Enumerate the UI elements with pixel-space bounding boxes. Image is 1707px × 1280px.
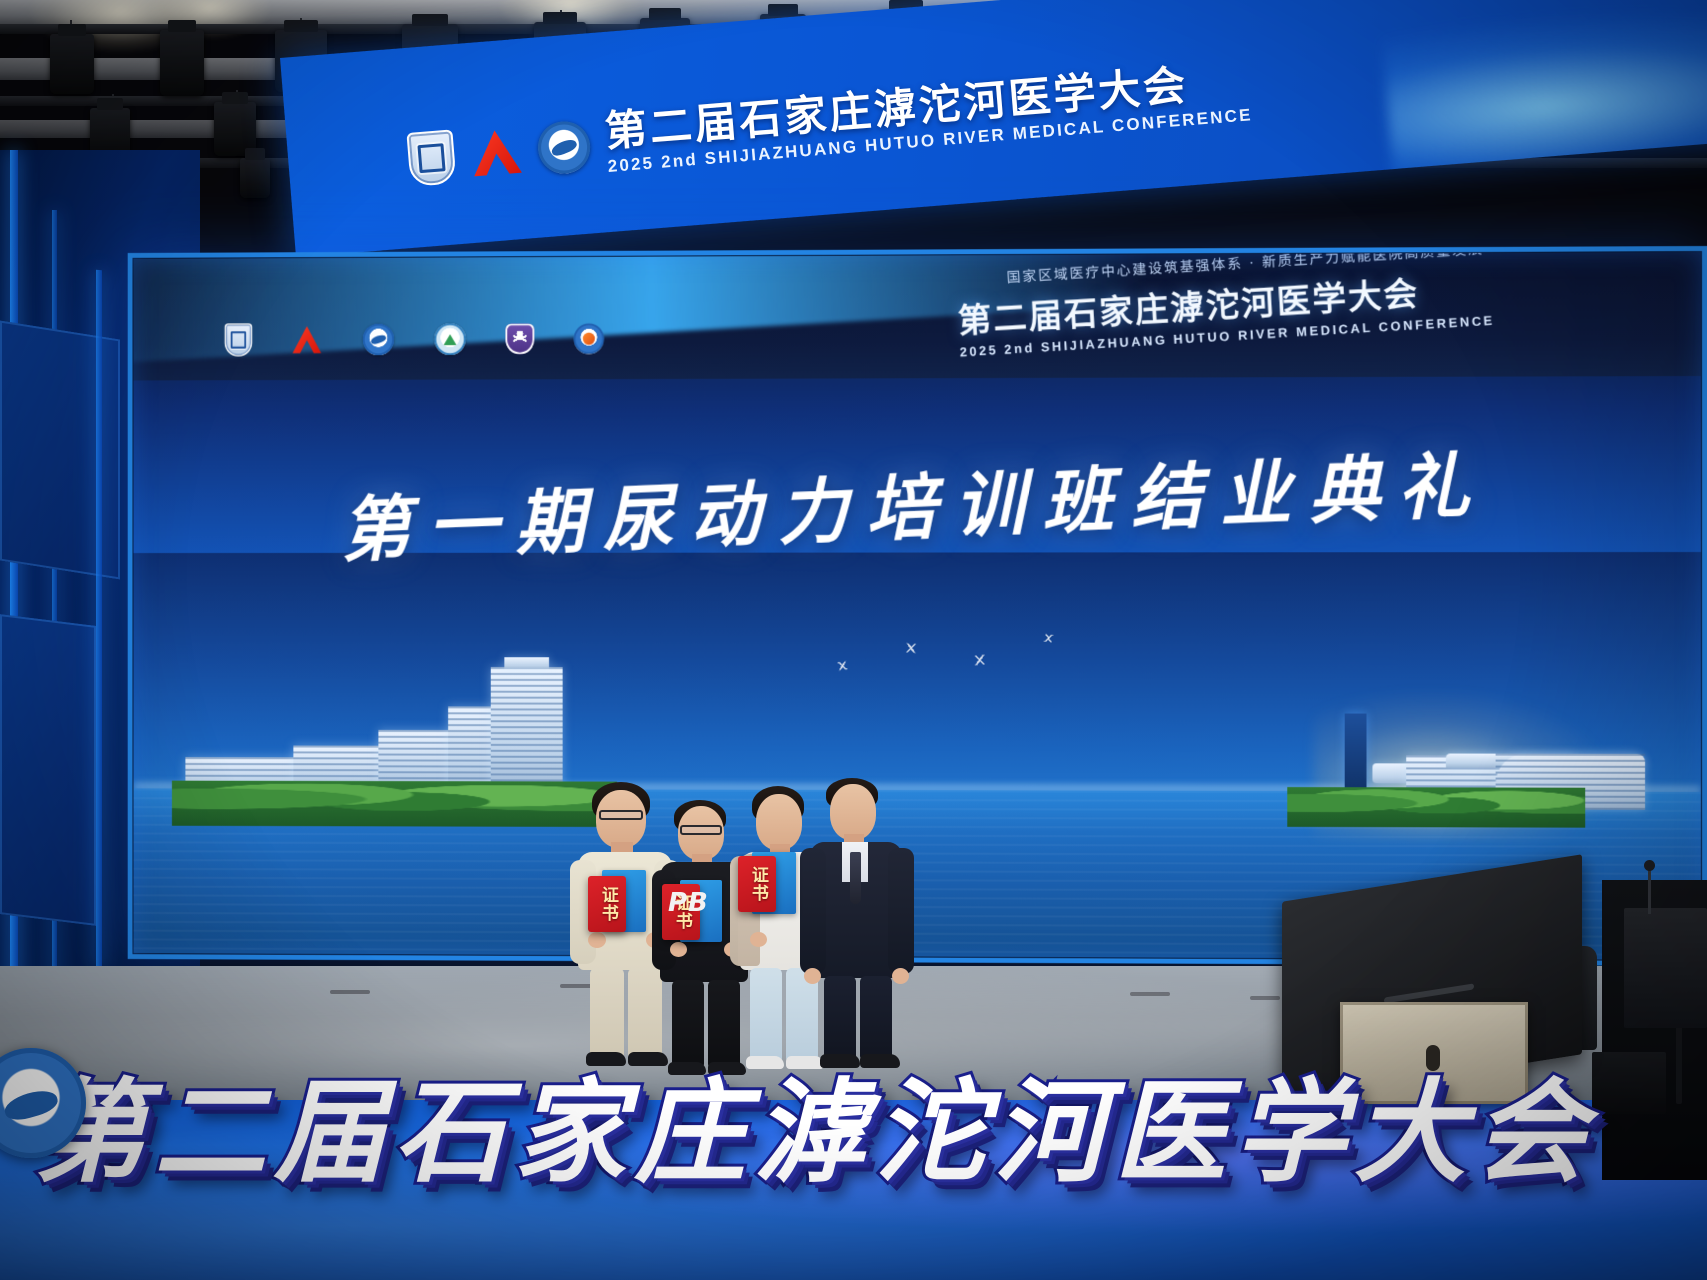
main-led-screen: 国家区域医疗中心建设筑基强体系 · 新质生产力赋能医院高质量发展 第二届石家庄滹… bbox=[128, 246, 1707, 966]
microphone-stem bbox=[1648, 866, 1651, 914]
certificate-label: 证书 bbox=[598, 886, 616, 922]
backdrop-hospital-buildings bbox=[185, 679, 591, 827]
blue-circle-medical-emblem-icon bbox=[363, 324, 394, 356]
stage-cable bbox=[1676, 1024, 1682, 1104]
stage-spotlight bbox=[240, 158, 270, 198]
stage-photo-scene: 第二届石家庄滹沱河医学大会 2025 2nd SHIJIAZHUANG HUTU… bbox=[0, 0, 1707, 1280]
tshirt-print-text: PB bbox=[668, 888, 709, 918]
stage-spotlight bbox=[50, 34, 94, 94]
foreground-sign-text: 第二届石家庄滹沱河医学大会 bbox=[34, 1068, 1594, 1198]
person-presenter bbox=[800, 778, 916, 1070]
purple-cus-emblem-icon bbox=[505, 324, 534, 355]
led-top-bar: 国家区域医疗中心建设筑基强体系 · 新质生产力赋能医院高质量发展 第二届石家庄滹… bbox=[133, 252, 1701, 380]
stage-speaker bbox=[1592, 1052, 1666, 1114]
certificate-awardee-3: 证书 bbox=[738, 856, 776, 912]
backdrop-medical-center-building bbox=[1198, 658, 1665, 828]
foreground-conference-sign: 第二届石家庄滹沱河医学大会 bbox=[34, 1042, 1594, 1204]
eyeglasses-icon bbox=[680, 825, 722, 835]
certificate-awardee-1: 证书 bbox=[588, 876, 626, 932]
blue-circle-medical-emblem-icon bbox=[536, 119, 592, 175]
hospital-shield-emblem-icon bbox=[225, 323, 252, 356]
lectern bbox=[1624, 908, 1707, 1028]
bird-icon bbox=[900, 643, 922, 653]
hospital-shield-emblem-icon bbox=[406, 129, 456, 187]
led-secondary-banner: 国家区域医疗中心建设筑基强体系 · 新质生产力赋能医院高质量发展 第二届石家庄滹… bbox=[955, 252, 1701, 397]
bird-icon bbox=[968, 654, 991, 665]
green-building-emblem-icon bbox=[434, 323, 465, 355]
red-triangle-logo-icon bbox=[468, 126, 524, 178]
eyeglasses-icon bbox=[599, 810, 643, 820]
led-partner-logos bbox=[216, 312, 613, 366]
stage-spotlight bbox=[160, 30, 204, 96]
certificate-label: 证书 bbox=[748, 866, 766, 902]
led-screen-content: 国家区域医疗中心建设筑基强体系 · 新质生产力赋能医院高质量发展 第二届石家庄滹… bbox=[133, 252, 1701, 960]
red-triangle-logo-icon bbox=[291, 325, 322, 354]
necktie-icon bbox=[850, 852, 861, 904]
microphone-icon bbox=[1644, 860, 1655, 871]
orange-circle-emblem-icon bbox=[574, 323, 604, 354]
